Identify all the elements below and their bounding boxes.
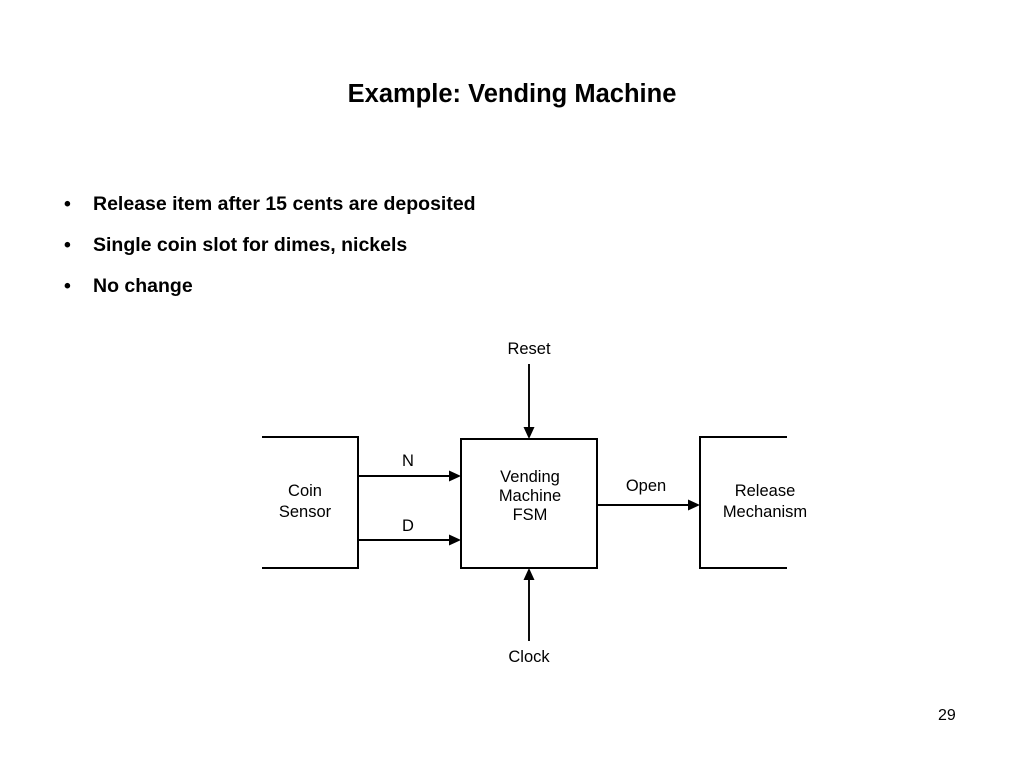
release-mechanism-label-line2: Mechanism <box>723 503 807 521</box>
n-label: N <box>402 452 414 470</box>
d-arrow-head-icon <box>449 535 461 546</box>
page-title: Example: Vending Machine <box>0 80 1024 109</box>
block-coin-sensor: Coin Sensor <box>262 437 359 568</box>
open-label: Open <box>626 477 666 495</box>
list-item: • No change <box>60 272 820 313</box>
clock-label: Clock <box>508 648 550 666</box>
open-arrow-head-icon <box>688 500 700 511</box>
diagram-svg: Coin Sensor Vending Machine FSM Release … <box>0 0 1024 768</box>
bullet-marker-icon: • <box>60 190 93 219</box>
bullet-text: Single coin slot for dimes, nickels <box>93 231 407 260</box>
bullet-text: Release item after 15 cents are deposite… <box>93 190 476 219</box>
signal-d: D <box>358 517 461 546</box>
d-label: D <box>402 517 414 535</box>
reset-label: Reset <box>507 340 551 358</box>
list-item: • Release item after 15 cents are deposi… <box>60 190 820 231</box>
bullet-list: • Release item after 15 cents are deposi… <box>60 190 820 313</box>
signal-clock: Clock <box>508 568 550 666</box>
block-release-mechanism: Release Mechanism <box>699 437 807 568</box>
fsm-label-line1: Vending <box>500 468 560 486</box>
block-diagram: Coin Sensor Vending Machine FSM Release … <box>0 0 1024 768</box>
release-mechanism-label-line1: Release <box>735 482 796 500</box>
n-arrow-head-icon <box>449 471 461 482</box>
bullet-text: No change <box>93 272 193 301</box>
signal-n: N <box>358 452 461 482</box>
fsm-label-line2: Machine <box>499 487 561 505</box>
coin-sensor-label-line1: Coin <box>288 482 322 500</box>
fsm-box-outline <box>461 439 597 568</box>
signal-reset: Reset <box>507 340 551 439</box>
reset-arrow-head-icon <box>524 427 535 439</box>
clock-arrow-head-icon <box>524 568 535 580</box>
slide-canvas: Example: Vending Machine • Release item … <box>0 0 1024 768</box>
bullet-marker-icon: • <box>60 272 93 301</box>
coin-sensor-label-line2: Sensor <box>279 503 332 521</box>
signal-open: Open <box>597 477 700 511</box>
block-vending-machine-fsm: Vending Machine FSM <box>461 439 597 568</box>
page-number: 29 <box>938 707 956 725</box>
list-item: • Single coin slot for dimes, nickels <box>60 231 820 272</box>
bullet-marker-icon: • <box>60 231 93 260</box>
fsm-label-line3: FSM <box>513 506 548 524</box>
